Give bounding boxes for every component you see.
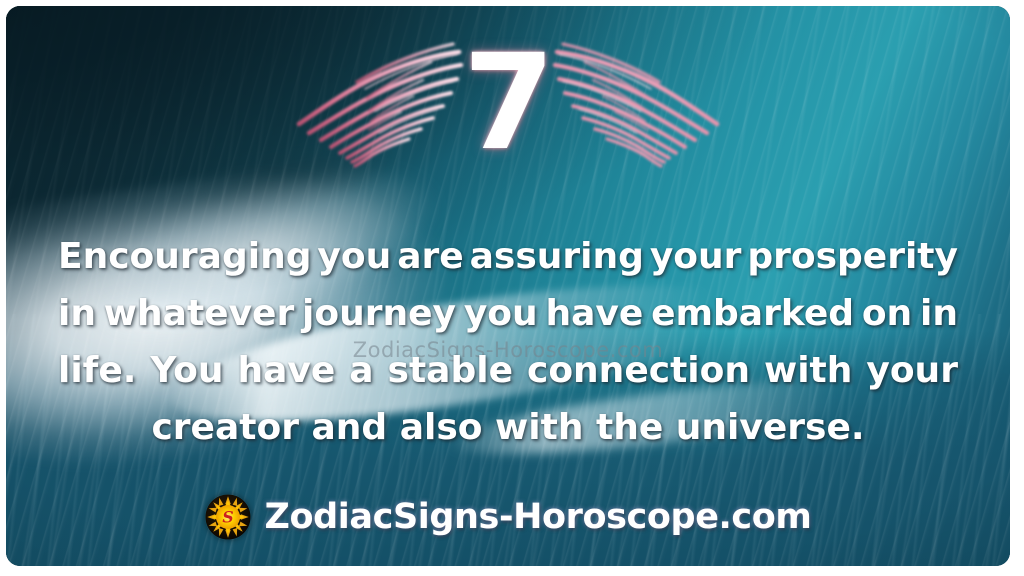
brand-name[interactable]: ZodiacSigns-Horoscope.com bbox=[265, 500, 812, 535]
svg-text:S: S bbox=[222, 508, 233, 527]
quote-word: with bbox=[764, 342, 852, 399]
quote-block: Encouraging you are assuring your prospe… bbox=[58, 228, 958, 456]
quote-word: your bbox=[866, 342, 958, 399]
angel-number: 7 bbox=[463, 37, 553, 177]
brand-footer[interactable]: S ZodiacSigns-Horoscope.com bbox=[6, 494, 1010, 540]
quote-word: in bbox=[58, 285, 96, 342]
quote-word: stable bbox=[388, 342, 513, 399]
angel-wing-left-icon bbox=[281, 32, 471, 182]
quote-word: in bbox=[920, 285, 958, 342]
quote-word: you bbox=[317, 228, 391, 285]
poster-card: 7 bbox=[0, 0, 1024, 576]
quote-word: Encouraging bbox=[58, 228, 311, 285]
quote-word: assuring bbox=[470, 228, 644, 285]
quote-word: you bbox=[464, 285, 538, 342]
quote-word: whatever bbox=[104, 285, 294, 342]
quote-word: You bbox=[150, 342, 223, 399]
quote-word: on bbox=[862, 285, 912, 342]
sun-burst-logo-icon: S bbox=[205, 494, 251, 540]
quote-word: embarked bbox=[651, 285, 854, 342]
header-emblem: 7 bbox=[6, 22, 1010, 192]
quote-line-3: life. You have a stable connection with … bbox=[58, 342, 958, 399]
quote-line-2: in whatever journey you have embarked on… bbox=[58, 285, 958, 342]
quote-word: a bbox=[349, 342, 373, 399]
quote-line-4: creator and also with the universe. bbox=[58, 399, 958, 456]
quote-word: journey bbox=[302, 285, 456, 342]
quote-word: are bbox=[397, 228, 463, 285]
quote-word: have bbox=[238, 342, 336, 399]
quote-word: connection bbox=[527, 342, 750, 399]
quote-word: prosperity bbox=[747, 228, 958, 285]
quote-line-1: Encouraging you are assuring your prospe… bbox=[58, 228, 958, 285]
quote-word: have bbox=[545, 285, 643, 342]
quote-word: your bbox=[650, 228, 742, 285]
ocean-wave-background: 7 bbox=[6, 6, 1010, 566]
quote-word: life. bbox=[58, 342, 136, 399]
angel-wing-right-icon bbox=[545, 32, 735, 182]
